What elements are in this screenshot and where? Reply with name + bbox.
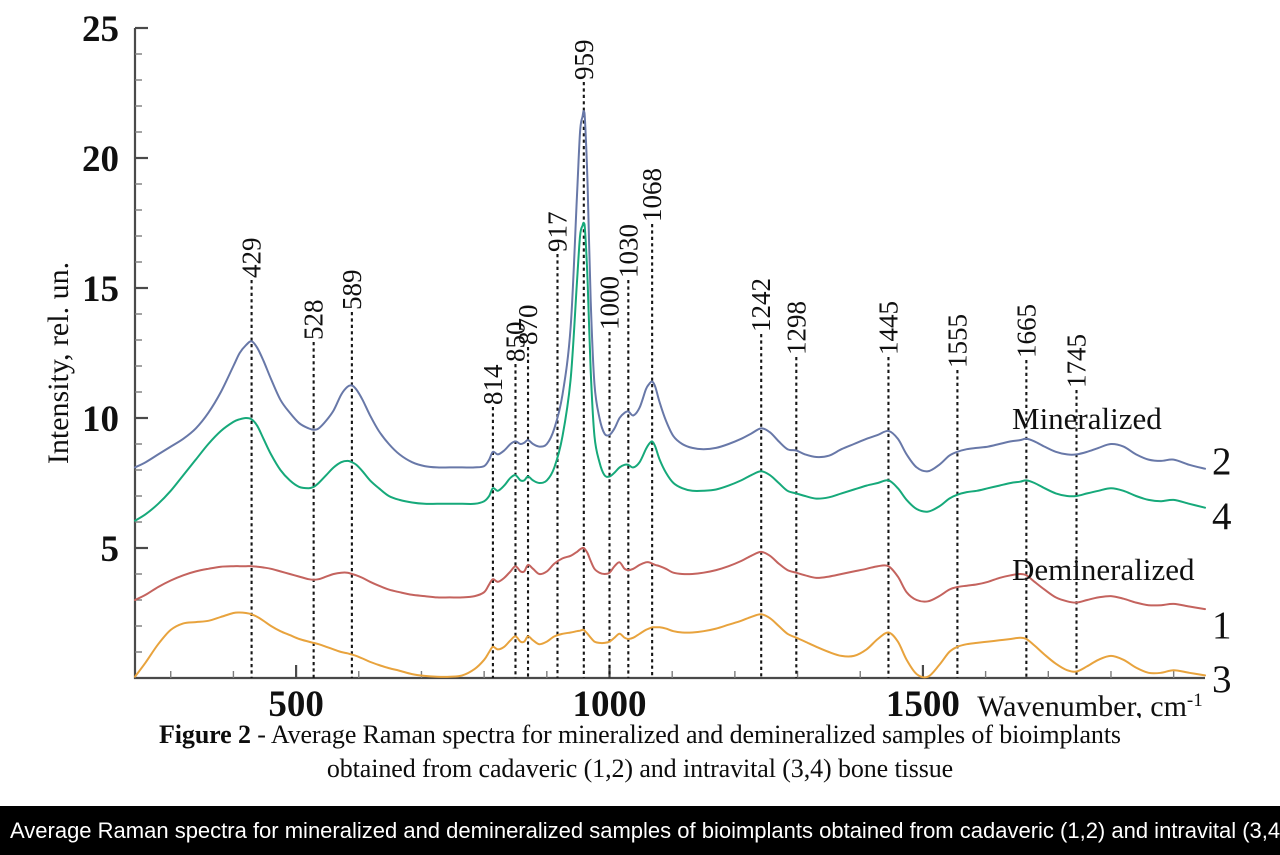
- y-tick-label: 5: [101, 529, 120, 570]
- y-tick-label: 15: [82, 269, 119, 310]
- caption-text-line1: Average Raman spectra for mineralized an…: [271, 720, 1121, 749]
- status-bar: Average Raman spectra for mineralized an…: [0, 806, 1280, 855]
- label-mineralized: Mineralized: [1012, 401, 1162, 436]
- figure-caption: Figure 2 - Average Raman spectra for min…: [0, 718, 1280, 798]
- x-tick-label: 1500: [886, 684, 960, 718]
- tick-labels: 51015202550010001500: [82, 9, 960, 718]
- caption-line-2: obtained from cadaveric (1,2) and intrav…: [0, 752, 1280, 786]
- curve-number-1: 1: [1212, 604, 1232, 647]
- x-tick-label: 1000: [573, 684, 647, 718]
- status-bar-text: Average Raman spectra for mineralized an…: [10, 818, 1280, 844]
- y-tick-label: 20: [82, 139, 119, 180]
- peak-labels: 4295285898148508709179591000103010681242…: [237, 40, 1092, 406]
- caption-line-1: Figure 2 - Average Raman spectra for min…: [0, 718, 1280, 752]
- label-demineralized: Demineralized: [1012, 552, 1195, 587]
- peak-label: 1000: [595, 276, 625, 330]
- peak-label: 589: [337, 270, 367, 311]
- x-tick-label: 500: [268, 684, 324, 718]
- caption-separator: -: [251, 720, 271, 749]
- peak-label: 959: [569, 40, 599, 81]
- peak-label: 1555: [942, 314, 972, 368]
- caption-figure-number: Figure 2: [159, 720, 251, 749]
- spectra-curves: [135, 111, 1205, 677]
- y-tick-label: 25: [82, 9, 119, 50]
- x-axis-title: Wavenumber, cm-1: [977, 690, 1202, 718]
- y-axis-title: Intensity, rel. un.: [42, 262, 75, 464]
- peak-label: 1445: [873, 301, 903, 355]
- spectrum-curve-4: [135, 223, 1205, 521]
- peak-label: 1030: [613, 224, 643, 278]
- x-axis-title-superscript: -1: [1187, 690, 1203, 711]
- peak-label: 1665: [1011, 304, 1041, 358]
- y-tick-label: 10: [82, 399, 119, 440]
- peak-label: 1242: [746, 278, 776, 332]
- curve-number-3: 3: [1212, 658, 1232, 701]
- peak-label: 917: [542, 212, 572, 253]
- raman-spectra-chart: 51015202550010001500 4295285898148508709…: [0, 0, 1280, 718]
- peak-label: 1068: [637, 168, 667, 222]
- figure-container: 51015202550010001500 4295285898148508709…: [0, 0, 1280, 855]
- curve-number-4: 4: [1212, 495, 1232, 538]
- peak-label: 1298: [781, 301, 811, 355]
- peak-label: 814: [478, 364, 508, 405]
- curve-number-2: 2: [1212, 440, 1232, 483]
- peak-label: 870: [513, 305, 543, 346]
- peak-label: 429: [237, 238, 267, 279]
- peak-label: 528: [299, 300, 329, 341]
- peak-label: 1745: [1061, 334, 1091, 388]
